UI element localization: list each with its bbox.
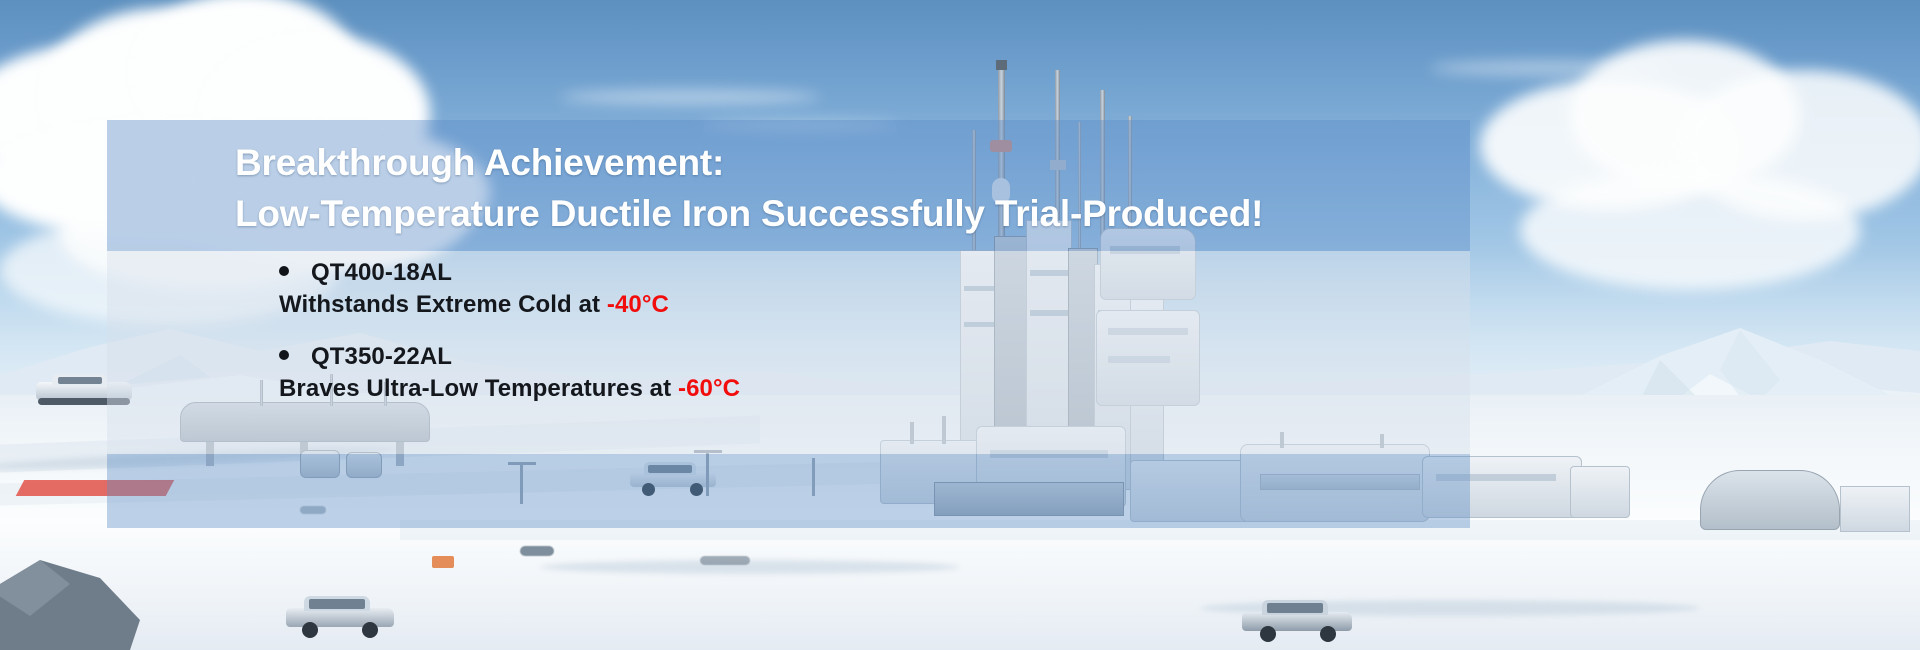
orange-equipment-marker bbox=[432, 556, 454, 568]
storage-tank-right bbox=[1700, 470, 1840, 530]
product-code: QT350-22AL bbox=[311, 342, 452, 373]
temperature-value: -60°C bbox=[678, 375, 740, 402]
headline-line-2: Low-Temperature Ductile Iron Successfull… bbox=[235, 195, 1465, 232]
list-item: QT350-22AL Braves Ultra-Low Temperatures… bbox=[279, 342, 1459, 404]
bullet-row-code: QT350-22AL bbox=[279, 342, 1459, 373]
product-description-text: Withstands Extreme Cold at bbox=[279, 291, 607, 318]
list-item: QT400-18AL Withstands Extreme Cold at -4… bbox=[279, 258, 1459, 320]
page-title: Breakthrough Achievement: Low-Temperatur… bbox=[235, 144, 1465, 232]
rock-small-2 bbox=[700, 556, 750, 565]
suv-foreground-left bbox=[286, 596, 394, 636]
shed-far-right bbox=[1840, 486, 1910, 532]
product-description: Withstands Extreme Cold at -40°C bbox=[279, 289, 1459, 320]
suv-foreground-right bbox=[1242, 600, 1352, 640]
product-code: QT400-18AL bbox=[311, 258, 452, 289]
headline-line-1: Breakthrough Achievement: bbox=[235, 142, 724, 183]
overlay-band-footer bbox=[107, 454, 1470, 528]
cloud-wisp-1 bbox=[560, 90, 820, 104]
feature-bullet-list: QT400-18AL Withstands Extreme Cold at -4… bbox=[279, 258, 1459, 426]
temperature-value: -40°C bbox=[607, 291, 669, 318]
foreground-rock bbox=[0, 530, 210, 650]
bullet-row-code: QT400-18AL bbox=[279, 258, 1459, 289]
bullet-dot-icon bbox=[279, 350, 289, 360]
bullet-dot-icon bbox=[279, 266, 289, 276]
rock-small-1 bbox=[520, 546, 554, 556]
product-description-text: Braves Ultra-Low Temperatures at bbox=[279, 375, 678, 402]
product-description: Braves Ultra-Low Temperatures at -60°C bbox=[279, 373, 1459, 404]
snow-shadow-2 bbox=[540, 560, 960, 574]
promo-overlay-panel: Breakthrough Achievement: Low-Temperatur… bbox=[107, 120, 1470, 528]
